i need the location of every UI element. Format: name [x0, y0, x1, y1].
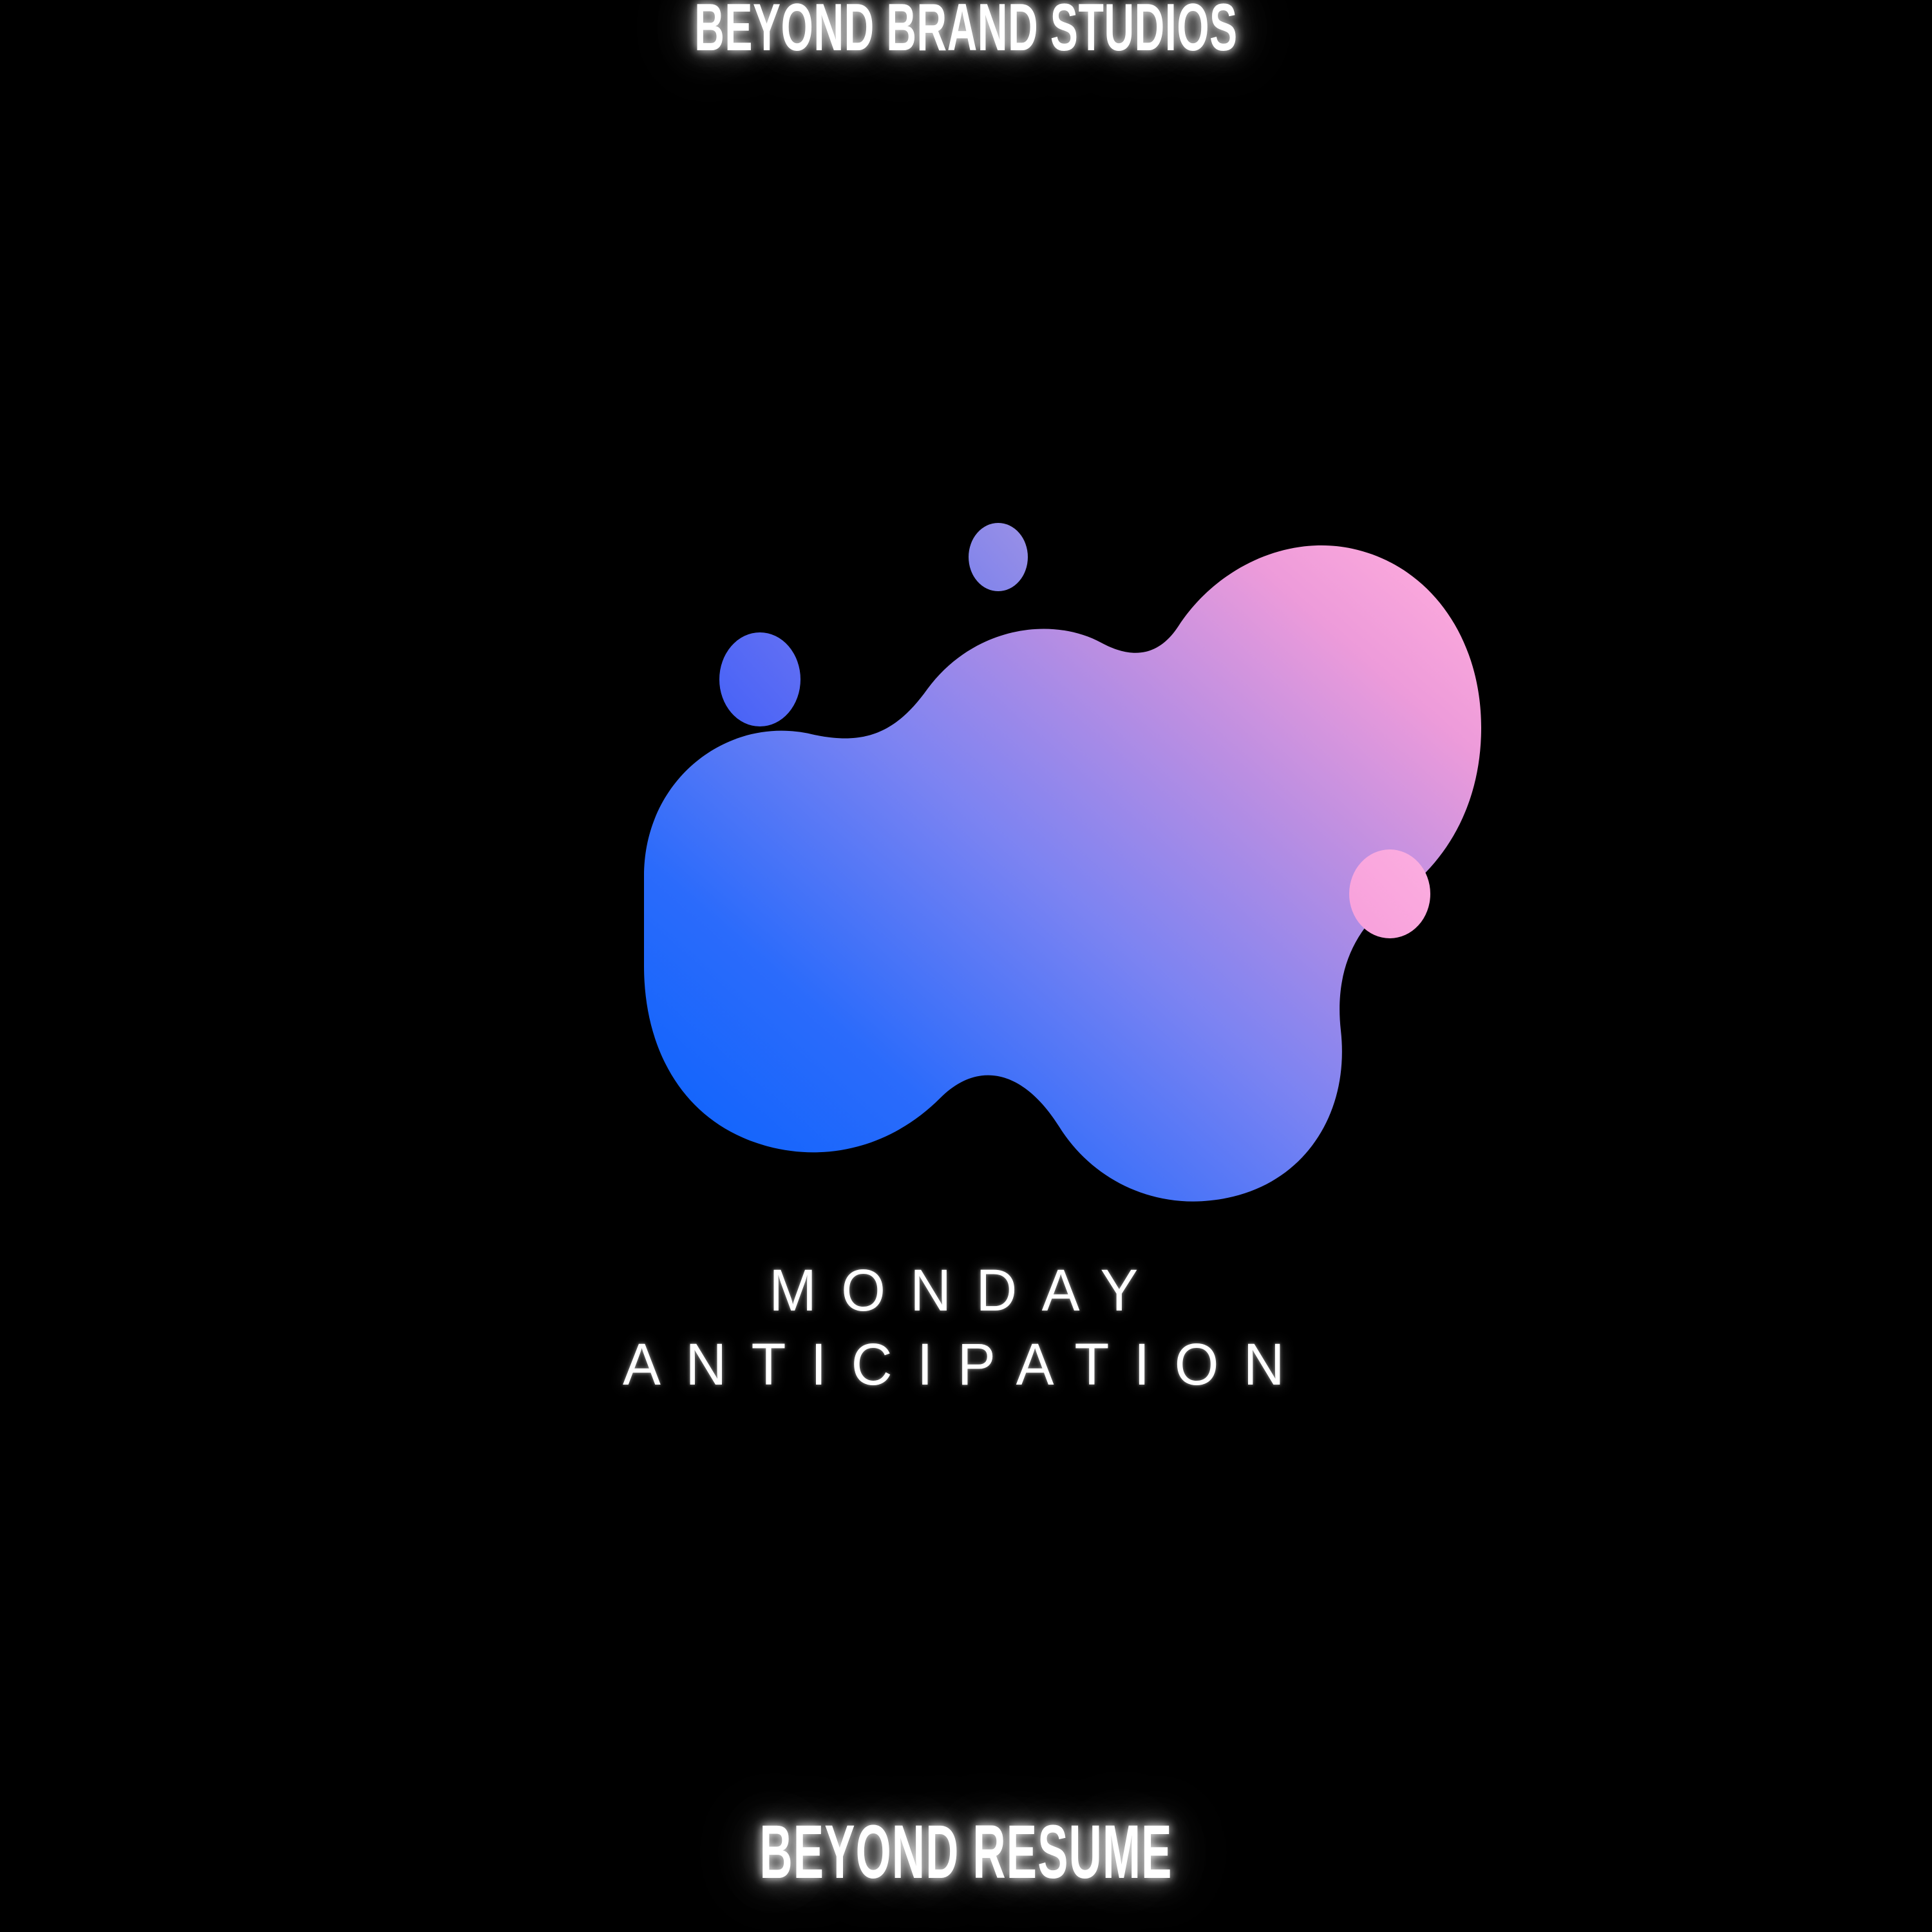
brand-top-wordmark: BEYOND BRAND STUDIOS — [367, 0, 1565, 66]
title-block: MONDAY ANTICIPATION — [0, 1255, 1932, 1403]
accent-dot-top — [969, 523, 1028, 591]
accent-dot-right — [1349, 849, 1430, 938]
title-line-2: ANTICIPATION — [39, 1327, 1893, 1403]
artwork-canvas: BEYOND BRAND STUDIOS — [0, 0, 1932, 1932]
blob-svg — [451, 477, 1507, 1224]
brand-bottom-wordmark: BEYOND RESUME — [386, 1808, 1546, 1896]
title-line-1: MONDAY — [39, 1255, 1893, 1327]
accent-dot-left — [719, 632, 800, 726]
gradient-blob-logo — [451, 477, 1507, 1224]
